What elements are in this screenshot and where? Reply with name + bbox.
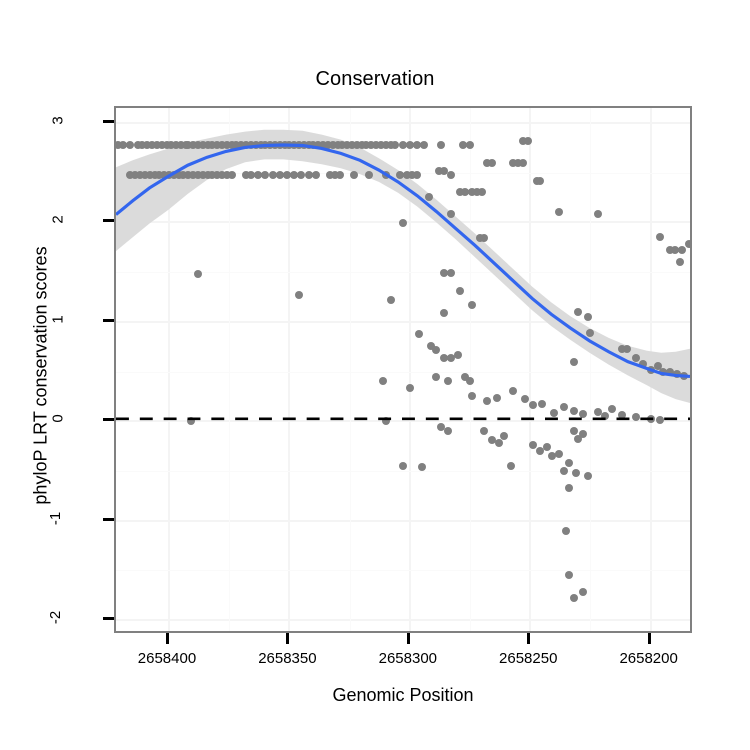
y-axis-title-text: phyloP LRT conservation scores (31, 246, 52, 504)
x-tick-label: 2658250 (499, 650, 557, 667)
y-tick-mark (103, 319, 114, 322)
smooth-trend-line (116, 108, 690, 631)
x-tick-mark (407, 633, 410, 644)
y-tick-label-text: 1 (49, 315, 66, 323)
y-tick-label: -1 (49, 510, 62, 527)
y-tick-label-text: -1 (47, 511, 64, 524)
y-tick-label: 0 (54, 410, 62, 427)
x-tick-label: 2658300 (379, 650, 437, 667)
y-tick-mark (103, 120, 114, 123)
plot-panel (114, 106, 692, 633)
y-tick-mark (103, 219, 114, 222)
x-tick-mark (648, 633, 651, 644)
x-axis-title: Genomic Position (114, 685, 692, 706)
y-tick-label-text: 2 (49, 216, 66, 224)
y-tick-label: 2 (54, 211, 62, 228)
x-tick-label: 2658350 (258, 650, 316, 667)
y-tick-label: 3 (54, 112, 62, 129)
y-axis-title: phyloP LRT conservation scores (28, 0, 54, 750)
x-tick-label: 2658400 (138, 650, 196, 667)
y-tick-label-text: 0 (49, 415, 66, 423)
y-tick-mark (103, 518, 114, 521)
chart-root: Conservation phyloP LRT conservation sco… (0, 0, 750, 750)
loess-curve (116, 145, 690, 376)
y-tick-label-text: -2 (47, 611, 64, 624)
y-tick-mark (103, 617, 114, 620)
x-tick-mark (166, 633, 169, 644)
x-tick-label: 2658200 (619, 650, 677, 667)
x-tick-mark (527, 633, 530, 644)
y-tick-label-text: 3 (49, 116, 66, 124)
y-tick-mark (103, 418, 114, 421)
page-title: Conservation (0, 68, 750, 91)
y-tick-label: -2 (49, 609, 62, 626)
y-tick-label: 1 (54, 311, 62, 328)
x-tick-mark (286, 633, 289, 644)
